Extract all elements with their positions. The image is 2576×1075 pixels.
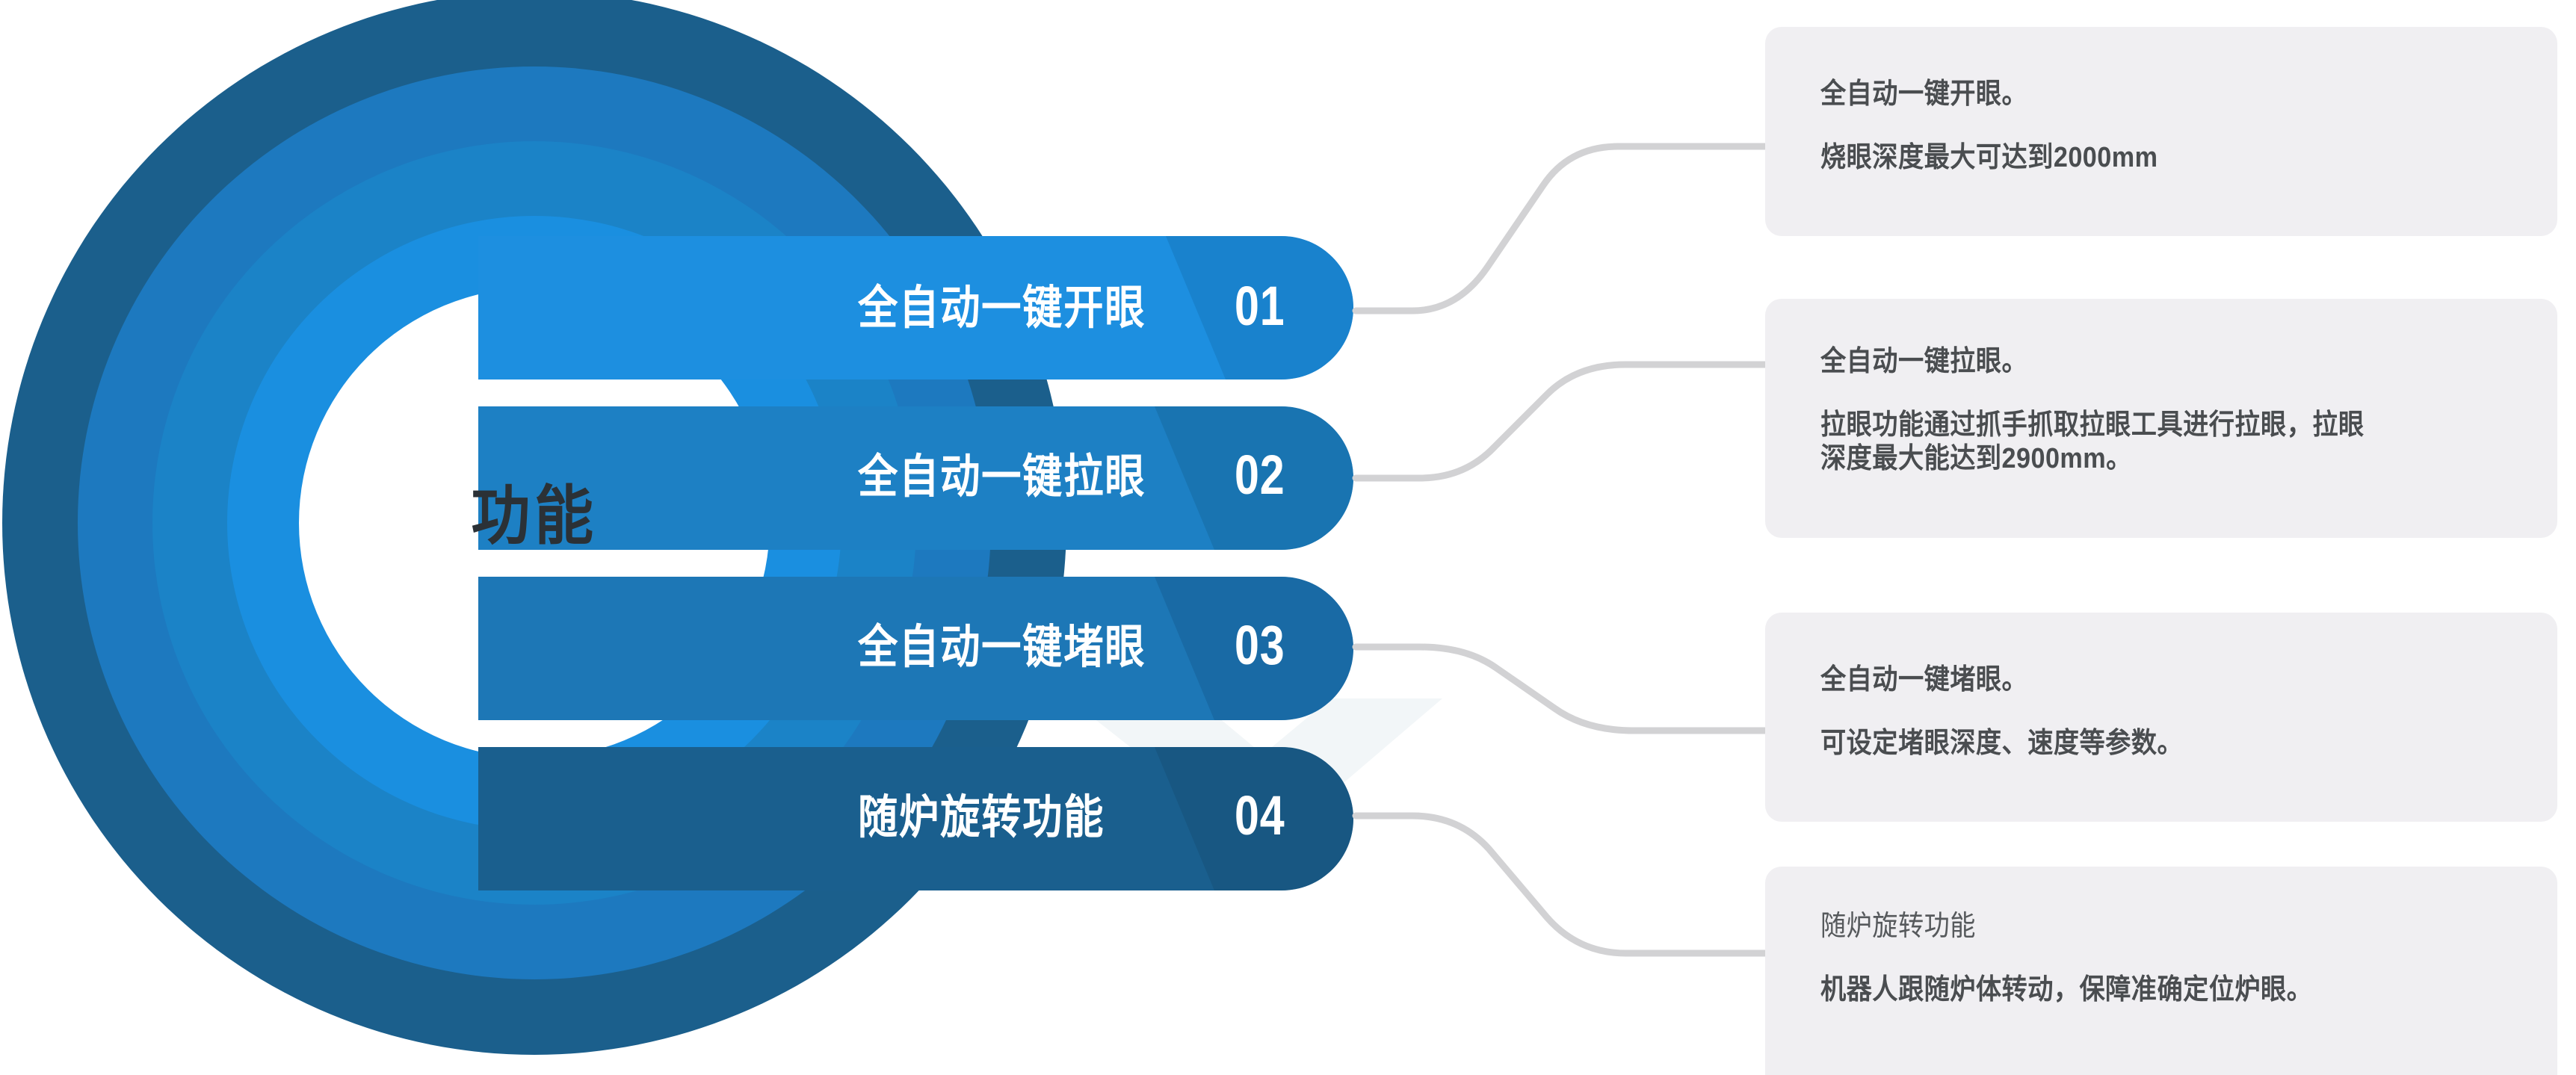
pill-label-02: 全自动一键拉眼 <box>858 454 1146 501</box>
detail-body-02: 拉眼功能通过抓手抓取拉眼工具进行拉眼，拉眼 深度最大能达到2900mm。 <box>1820 409 2443 476</box>
detail-body-01: 烧眼深度最大可达到2000mm <box>1820 141 2443 175</box>
pill-number-04: 04 <box>1235 788 1285 843</box>
pill-number-03: 03 <box>1235 618 1285 673</box>
connector-04 <box>1356 816 1765 953</box>
infographic-canvas: 功能 全自动一键开眼 01 全自动一键拉眼 02 全自动一键堵眼 03 随炉旋转… <box>0 0 2576 1075</box>
detail-head-02: 全自动一键拉眼。 <box>1820 345 2443 379</box>
hub-label: 功能 <box>390 484 679 548</box>
detail-body-03: 可设定堵眼深度、速度等参数。 <box>1820 727 2443 760</box>
detail-head-04: 随炉旋转功能 <box>1820 910 2443 944</box>
pill-label-04: 随炉旋转功能 <box>858 795 1105 841</box>
detail-body-04: 机器人跟随炉体转动，保障准确定位炉眼。 <box>1820 973 2443 1007</box>
pill-label-03: 全自动一键堵眼 <box>858 625 1146 671</box>
pill-number-02: 02 <box>1235 447 1285 503</box>
detail-card-01[interactable]: 全自动一键开眼。 烧眼深度最大可达到2000mm <box>1765 27 2557 236</box>
detail-card-04[interactable]: 随炉旋转功能 机器人跟随炉体转动，保障准确定位炉眼。 <box>1765 867 2557 1075</box>
connector-01 <box>1356 146 1765 311</box>
connector-lines <box>1356 146 1765 953</box>
connector-02 <box>1356 365 1765 478</box>
detail-head-03: 全自动一键堵眼。 <box>1820 663 2443 697</box>
detail-card-02[interactable]: 全自动一键拉眼。 拉眼功能通过抓手抓取拉眼工具进行拉眼，拉眼 深度最大能达到29… <box>1765 299 2557 538</box>
detail-head-01: 全自动一键开眼。 <box>1820 78 2443 111</box>
pill-label-01: 全自动一键开眼 <box>858 285 1146 332</box>
detail-card-03[interactable]: 全自动一键堵眼。 可设定堵眼深度、速度等参数。 <box>1765 613 2557 822</box>
pill-number-01: 01 <box>1235 279 1285 334</box>
